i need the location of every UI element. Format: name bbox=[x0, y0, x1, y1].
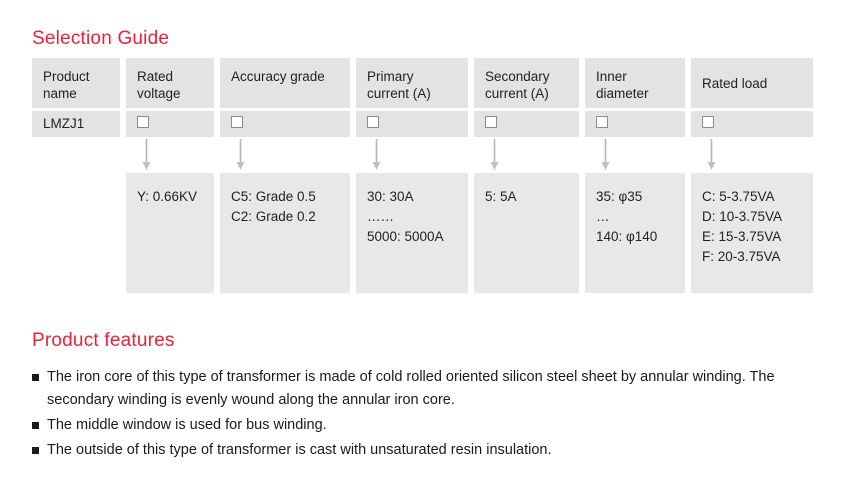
list-item: The outside of this type of transformer … bbox=[32, 439, 832, 462]
column-checkbox-cell[interactable] bbox=[585, 111, 685, 137]
checkbox-icon[interactable] bbox=[231, 116, 243, 128]
column-checkbox-cell[interactable] bbox=[126, 111, 214, 137]
guide-column-rated-load: Rated load C: 5-3.75VA D: 10-3.75VA E: 1… bbox=[691, 58, 813, 293]
guide-column-rated-voltage: Rated voltage Y: 0.66KV bbox=[126, 58, 214, 293]
arrow-zone-empty bbox=[32, 137, 120, 173]
column-options: C5: Grade 0.5 C2: Grade 0.2 bbox=[220, 173, 350, 293]
down-arrow-icon bbox=[372, 139, 381, 171]
down-arrow-icon bbox=[707, 139, 716, 171]
arrow-zone bbox=[474, 137, 579, 173]
list-item-text: The middle window is used for bus windin… bbox=[47, 414, 832, 437]
list-item: The iron core of this type of transforme… bbox=[32, 366, 832, 412]
guide-column-secondary-current: Secondary current (A) 5: 5A bbox=[474, 58, 579, 293]
arrow-zone bbox=[691, 137, 813, 173]
checkbox-icon[interactable] bbox=[596, 116, 608, 128]
selection-guide-title: Selection Guide bbox=[32, 28, 169, 50]
guide-column-accuracy-grade: Accuracy grade C5: Grade 0.5 C2: Grade 0… bbox=[220, 58, 350, 293]
column-header: Product name bbox=[32, 58, 120, 108]
column-checkbox-cell[interactable] bbox=[691, 111, 813, 137]
checkbox-icon[interactable] bbox=[702, 116, 714, 128]
selection-guide-table: Product name LMZJ1 Rated voltage Y: 0.66… bbox=[32, 58, 813, 293]
column-options: C: 5-3.75VA D: 10-3.75VA E: 15-3.75VA F:… bbox=[691, 173, 813, 293]
arrow-zone bbox=[356, 137, 468, 173]
column-options: 30: 30A …… 5000: 5000A bbox=[356, 173, 468, 293]
column-options bbox=[32, 173, 120, 293]
column-header: Accuracy grade bbox=[220, 58, 350, 108]
list-item-text: The iron core of this type of transforme… bbox=[47, 366, 832, 412]
column-header: Secondary current (A) bbox=[474, 58, 579, 108]
column-value: LMZJ1 bbox=[32, 111, 120, 137]
guide-column-product-name: Product name LMZJ1 bbox=[32, 58, 120, 293]
column-header: Rated voltage bbox=[126, 58, 214, 108]
guide-column-inner-diameter: Inner diameter 35: φ35 … 140: φ140 bbox=[585, 58, 685, 293]
column-header: Primary current (A) bbox=[356, 58, 468, 108]
list-item-text: The outside of this type of transformer … bbox=[47, 439, 832, 462]
product-features-title: Product features bbox=[32, 330, 175, 352]
checkbox-icon[interactable] bbox=[367, 116, 379, 128]
arrow-zone bbox=[220, 137, 350, 173]
column-checkbox-cell[interactable] bbox=[474, 111, 579, 137]
list-item: The middle window is used for bus windin… bbox=[32, 414, 832, 437]
square-bullet-icon bbox=[32, 422, 39, 429]
square-bullet-icon bbox=[32, 447, 39, 454]
column-header: Rated load bbox=[691, 58, 813, 108]
column-options: 5: 5A bbox=[474, 173, 579, 293]
column-checkbox-cell[interactable] bbox=[356, 111, 468, 137]
square-bullet-icon bbox=[32, 374, 39, 381]
column-options: Y: 0.66KV bbox=[126, 173, 214, 293]
product-features-list: The iron core of this type of transforme… bbox=[32, 366, 832, 464]
product-name-value: LMZJ1 bbox=[43, 116, 84, 131]
down-arrow-icon bbox=[236, 139, 245, 171]
checkbox-icon[interactable] bbox=[137, 116, 149, 128]
checkbox-icon[interactable] bbox=[485, 116, 497, 128]
column-header: Inner diameter bbox=[585, 58, 685, 108]
down-arrow-icon bbox=[601, 139, 610, 171]
page: Selection Guide Product name LMZJ1 Rated… bbox=[0, 0, 858, 487]
down-arrow-icon bbox=[142, 139, 151, 171]
column-checkbox-cell[interactable] bbox=[220, 111, 350, 137]
arrow-zone bbox=[585, 137, 685, 173]
guide-column-primary-current: Primary current (A) 30: 30A …… 5000: 500… bbox=[356, 58, 468, 293]
column-options: 35: φ35 … 140: φ140 bbox=[585, 173, 685, 293]
arrow-zone bbox=[126, 137, 214, 173]
down-arrow-icon bbox=[490, 139, 499, 171]
